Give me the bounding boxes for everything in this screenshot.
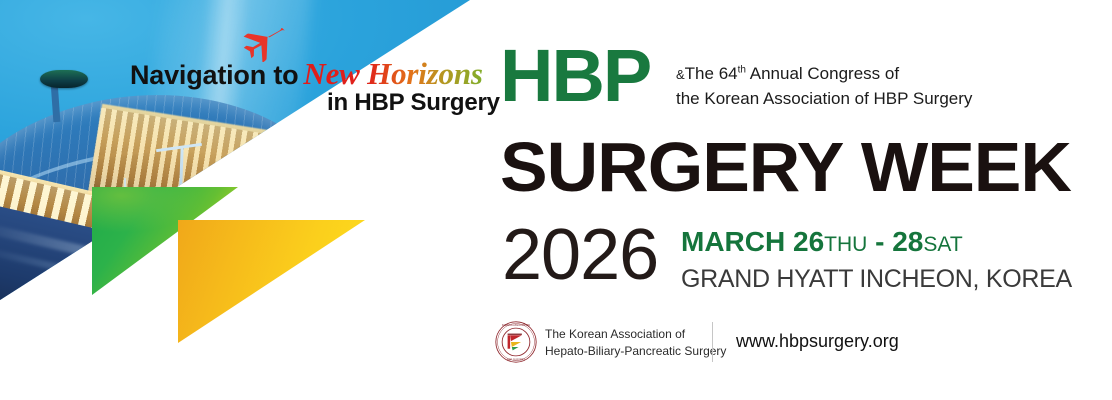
event-day-start-weekday: THU	[824, 233, 867, 256]
association-seal-icon: KOREAN ASSOCIATION HBP SURGERY	[495, 321, 537, 363]
association-name-line-1: The Korean Association of	[545, 326, 726, 343]
event-day-end: 28	[892, 226, 923, 257]
ampersand: &	[676, 67, 685, 82]
footer-divider	[712, 322, 713, 362]
association-name: The Korean Association of Hepato-Biliary…	[545, 326, 726, 361]
tagline-highlight: New Horizons	[298, 56, 482, 91]
event-month: MARCH	[681, 226, 785, 257]
event-dates: MARCH 26THU - 28SAT	[681, 228, 963, 256]
event-venue: GRAND HYATT INCHEON, KOREA	[681, 265, 1072, 294]
event-day-end-weekday: SAT	[923, 233, 962, 256]
tagline-line-1: Navigation toNew Horizons	[130, 56, 483, 92]
association-name-line-2: Hepato-Biliary-Pancreatic Surgery	[545, 343, 726, 360]
svg-text:KOREAN ASSOCIATION: KOREAN ASSOCIATION	[502, 324, 530, 327]
event-year: 2026	[502, 219, 658, 291]
yellow-triangle	[178, 220, 365, 343]
tagline-line-2: in HBP Surgery	[327, 89, 500, 117]
website-url[interactable]: www.hbpsurgery.org	[736, 331, 899, 352]
congress-subtitle: &The 64th Annual Congress of the Korean …	[676, 62, 972, 111]
date-range-dash: -	[875, 226, 884, 257]
congress-subtitle-line-2: the Korean Association of HBP Surgery	[676, 87, 972, 112]
event-day-start: 26	[793, 226, 824, 257]
svg-text:HBP SURGERY: HBP SURGERY	[507, 358, 526, 361]
surgery-week-title: SURGERY WEEK	[500, 132, 1071, 202]
hbp-acronym: HBP	[500, 41, 650, 111]
conference-banner: Navigation toNew Horizons in HBP Surgery…	[0, 0, 1112, 400]
congress-tail: Annual Congress of	[746, 64, 899, 83]
congress-ordinal: th	[738, 64, 746, 75]
tagline-prefix: Navigation to	[130, 60, 298, 90]
congress-count: The 64	[685, 64, 738, 83]
control-pod	[40, 70, 88, 88]
congress-subtitle-line-1: &The 64th Annual Congress of	[676, 62, 972, 87]
